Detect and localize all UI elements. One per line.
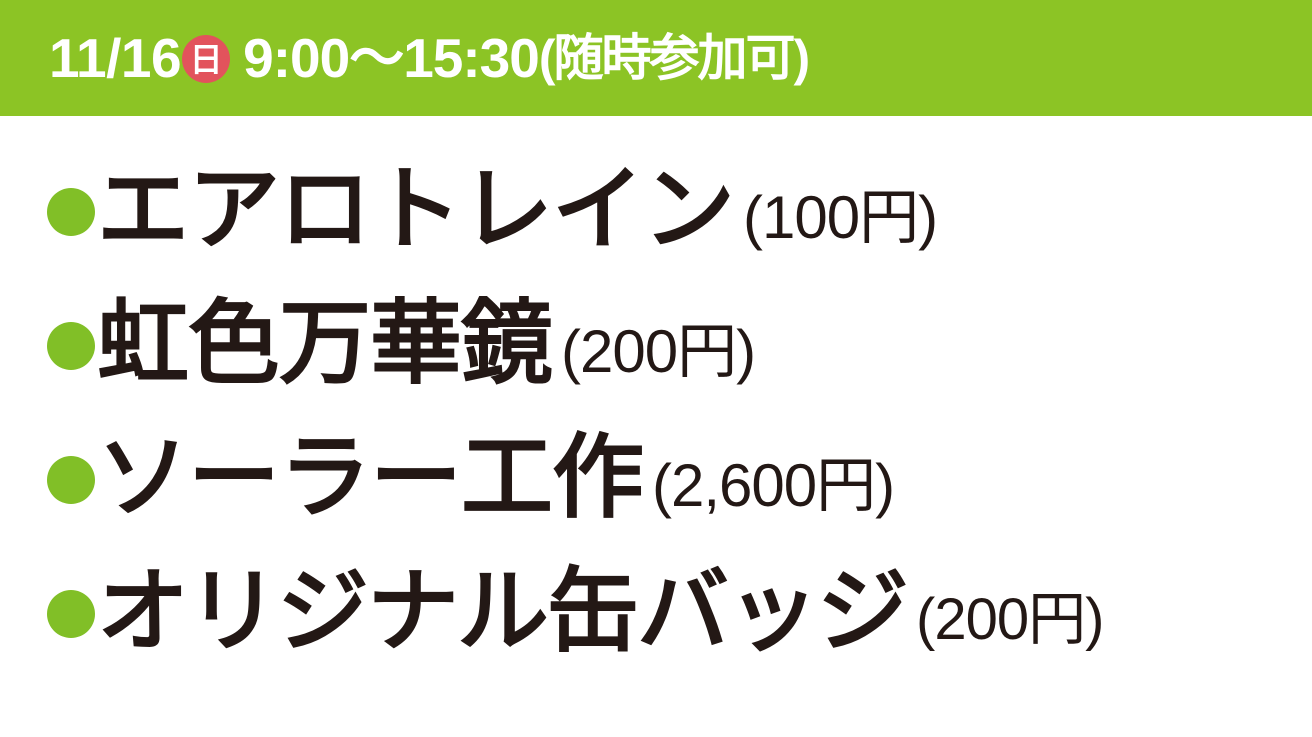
event-participation-note: (随時参加可) (539, 33, 808, 83)
event-time-range: 9:00～15:30 (243, 31, 539, 86)
list-item: エアロトレイン (100円) (47, 152, 1312, 267)
schedule-header-bar: 11/16 日 9:00～15:30 (随時参加可) (0, 0, 1312, 116)
activity-list: エアロトレイン (100円) 虹色万華鏡 (200円) ソーラー工作 (2,60… (0, 116, 1312, 737)
activity-price: (100円) (743, 188, 937, 248)
bullet-dot-icon (47, 456, 95, 504)
activity-price: (2,600円) (652, 456, 894, 516)
bullet-dot-icon (47, 590, 95, 638)
activity-price: (200円) (561, 322, 755, 382)
activity-name: 虹色万華鏡 (97, 298, 552, 390)
activity-name: オリジナル缶バッジ (97, 566, 907, 658)
list-item: オリジナル缶バッジ (200円) (47, 554, 1312, 669)
bullet-dot-icon (47, 322, 95, 370)
event-date: 11/16 (49, 31, 181, 86)
activity-price: (200円) (916, 591, 1103, 649)
list-item: 虹色万華鏡 (200円) (47, 286, 1312, 401)
bullet-dot-icon (47, 188, 95, 236)
weekday-badge-icon: 日 (182, 35, 230, 83)
activity-name: ソーラー工作 (97, 432, 643, 524)
schedule-header-line: 11/16 日 9:00～15:30 (随時参加可) (49, 31, 808, 86)
list-item: ソーラー工作 (2,600円) (47, 420, 1312, 535)
activity-name: エアロトレイン (97, 164, 734, 256)
